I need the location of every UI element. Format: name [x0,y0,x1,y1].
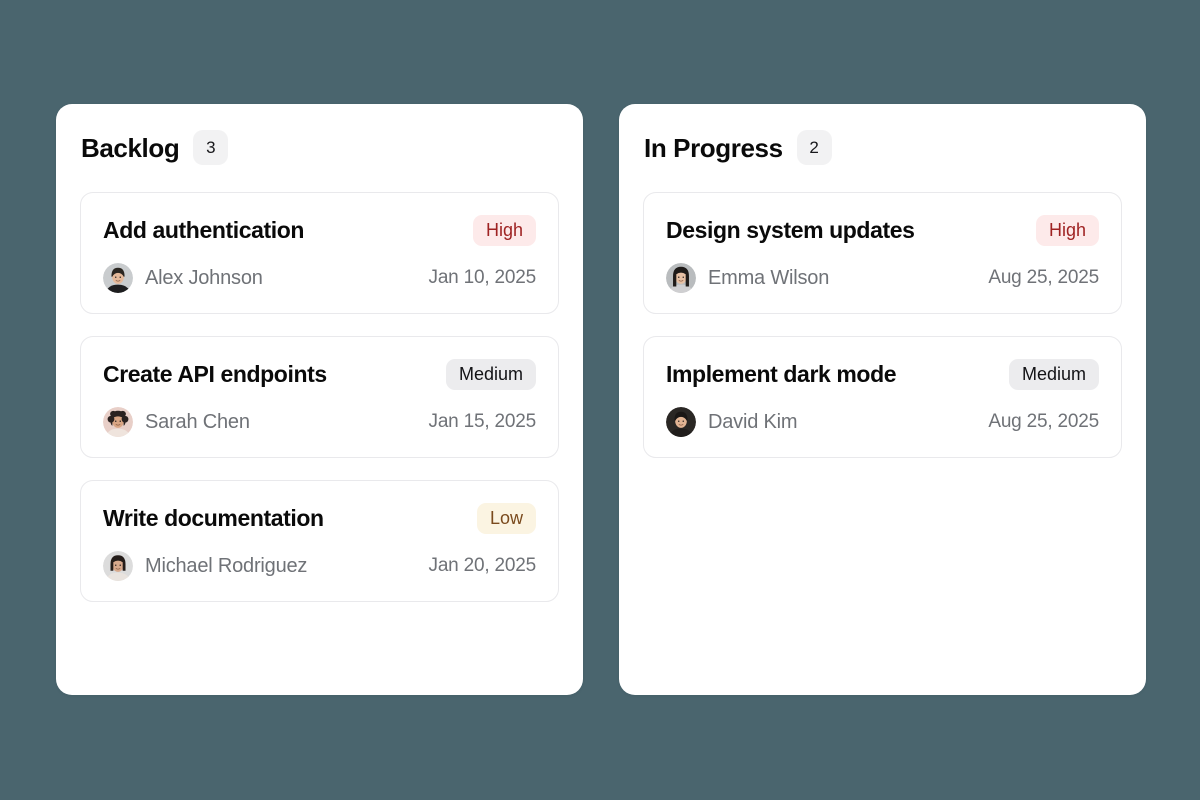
due-date: Jan 20, 2025 [429,555,536,577]
card-list: Design system updatesHigh Emma WilsonAug… [643,192,1122,458]
task-title: Add authentication [103,217,304,243]
task-card-header: Write documentationLow [103,503,536,534]
task-title: Implement dark mode [666,361,896,387]
assignee[interactable]: Michael Rodriguez [103,551,307,581]
avatar [103,551,133,581]
due-date: Aug 25, 2025 [988,411,1099,433]
assignee-name: Sarah Chen [145,411,250,434]
assignee[interactable]: Emma Wilson [666,263,829,293]
priority-badge[interactable]: High [473,215,536,246]
card-list: Add authenticationHigh Alex JohnsonJan 1… [80,192,559,602]
task-card-header: Add authenticationHigh [103,215,536,246]
assignee[interactable]: Sarah Chen [103,407,250,437]
task-card-footer: Alex JohnsonJan 10, 2025 [103,263,536,293]
task-card[interactable]: Implement dark modeMedium David KimAug 2… [643,336,1122,458]
task-card[interactable]: Create API endpointsMedium Sarah ChenJan… [80,336,559,458]
assignee-name: Emma Wilson [708,267,829,290]
priority-badge[interactable]: Medium [446,359,536,390]
due-date: Aug 25, 2025 [988,267,1099,289]
assignee-name: Michael Rodriguez [145,555,307,578]
task-card-footer: David KimAug 25, 2025 [666,407,1099,437]
avatar [666,263,696,293]
assignee-name: David Kim [708,411,797,434]
column-count-badge: 2 [797,130,832,165]
avatar [103,263,133,293]
assignee[interactable]: Alex Johnson [103,263,263,293]
task-title: Create API endpoints [103,361,327,387]
task-card[interactable]: Write documentationLow Michael Rodriguez… [80,480,559,602]
due-date: Jan 10, 2025 [429,267,536,289]
task-title: Design system updates [666,217,915,243]
column-title: Backlog [81,135,179,161]
due-date: Jan 15, 2025 [429,411,536,433]
column-header: Backlog3 [80,130,559,165]
task-card-footer: Sarah ChenJan 15, 2025 [103,407,536,437]
task-card-header: Create API endpointsMedium [103,359,536,390]
task-card-header: Implement dark modeMedium [666,359,1099,390]
priority-badge[interactable]: Low [477,503,536,534]
board-column: Backlog3Add authenticationHigh Alex John… [56,104,583,695]
column-header: In Progress2 [643,130,1122,165]
task-card[interactable]: Design system updatesHigh Emma WilsonAug… [643,192,1122,314]
priority-badge[interactable]: Medium [1009,359,1099,390]
assignee-name: Alex Johnson [145,267,263,290]
board-column: In Progress2Design system updatesHigh Em… [619,104,1146,695]
task-card[interactable]: Add authenticationHigh Alex JohnsonJan 1… [80,192,559,314]
column-count-badge: 3 [193,130,228,165]
avatar [666,407,696,437]
task-card-header: Design system updatesHigh [666,215,1099,246]
kanban-board: Backlog3Add authenticationHigh Alex John… [56,104,1146,695]
priority-badge[interactable]: High [1036,215,1099,246]
task-title: Write documentation [103,505,324,531]
task-card-footer: Emma WilsonAug 25, 2025 [666,263,1099,293]
avatar [103,407,133,437]
task-card-footer: Michael RodriguezJan 20, 2025 [103,551,536,581]
assignee[interactable]: David Kim [666,407,797,437]
column-title: In Progress [644,135,783,161]
